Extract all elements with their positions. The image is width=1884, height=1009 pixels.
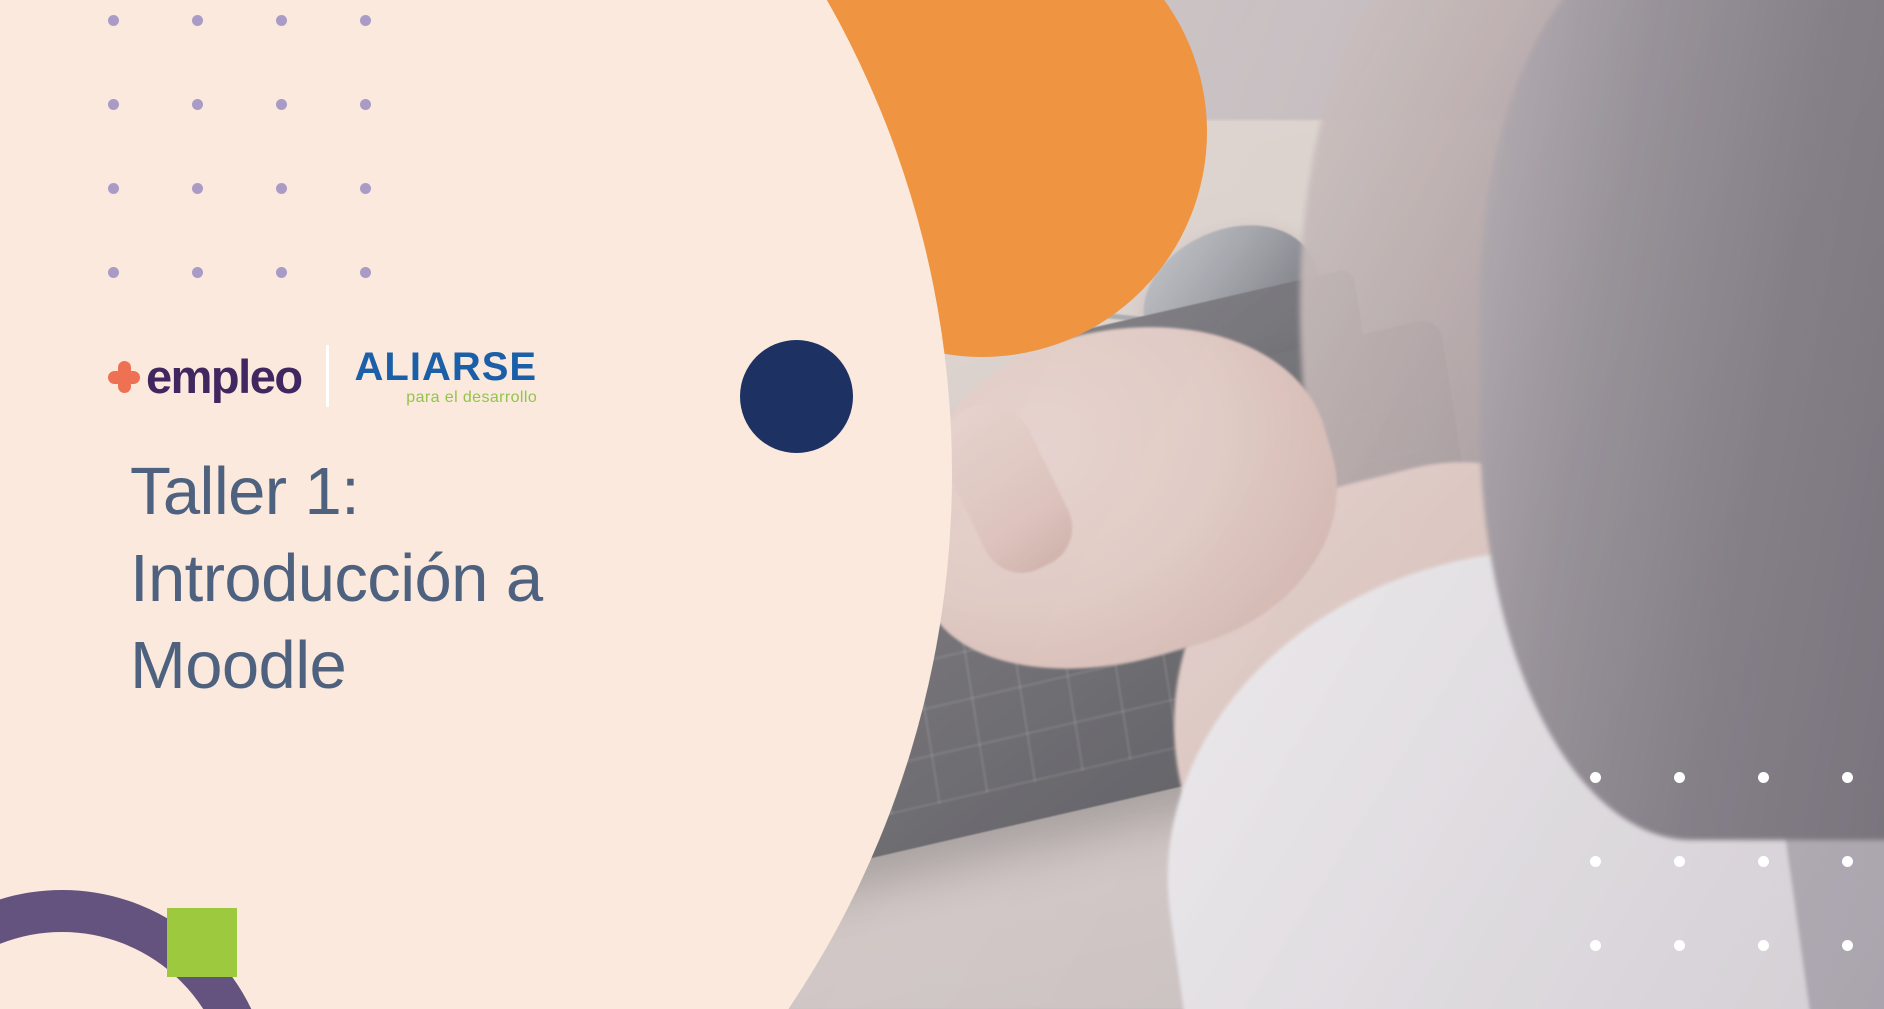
grid-dot — [1842, 940, 1853, 951]
grid-dot — [1590, 856, 1601, 867]
grid-dot — [360, 183, 371, 194]
page-title-line-1: Taller 1: — [130, 454, 359, 529]
grid-dot — [192, 99, 203, 110]
grid-dot — [360, 267, 371, 278]
grid-dot — [108, 15, 119, 26]
grid-dot — [1674, 772, 1685, 783]
grid-dot — [192, 267, 203, 278]
logo-lockup: empleo ALIARSE para el desarrollo — [108, 337, 537, 415]
grid-dot — [1674, 940, 1685, 951]
slide-canvas: Instant Grammar Checker GRAMMAR CHECK WO… — [0, 0, 1884, 1009]
grid-dot — [108, 99, 119, 110]
grid-dot — [108, 183, 119, 194]
grid-dot — [360, 15, 371, 26]
navy-circle — [740, 340, 853, 453]
aliarse-wordmark: ALIARSE — [355, 347, 538, 387]
grid-dot — [1758, 772, 1769, 783]
empleo-logo[interactable]: empleo — [108, 353, 302, 400]
grid-dot — [1842, 856, 1853, 867]
grid-dot — [192, 15, 203, 26]
aliarse-tagline: para el desarrollo — [355, 390, 538, 406]
grid-dot — [192, 183, 203, 194]
grid-dot — [276, 99, 287, 110]
green-square — [167, 908, 237, 977]
page-title: Taller 1: Introducción a Moodle — [130, 448, 690, 709]
aliarse-logo[interactable]: ALIARSE para el desarrollo — [355, 347, 538, 406]
grid-dot — [1590, 772, 1601, 783]
grid-dot — [108, 267, 119, 278]
logo-divider — [326, 345, 329, 407]
grid-dot — [1758, 940, 1769, 951]
page-title-line-3: Moodle — [130, 628, 346, 703]
grid-dot — [360, 99, 371, 110]
grid-dot — [1758, 856, 1769, 867]
grid-dot — [276, 267, 287, 278]
grid-dot — [1842, 772, 1853, 783]
grid-dot — [276, 183, 287, 194]
plus-cross-icon — [108, 361, 140, 393]
grid-dot — [276, 15, 287, 26]
grid-dot — [1674, 856, 1685, 867]
grid-dot — [1590, 940, 1601, 951]
empleo-wordmark: empleo — [146, 353, 302, 400]
page-title-line-2: Introducción a — [130, 541, 542, 616]
